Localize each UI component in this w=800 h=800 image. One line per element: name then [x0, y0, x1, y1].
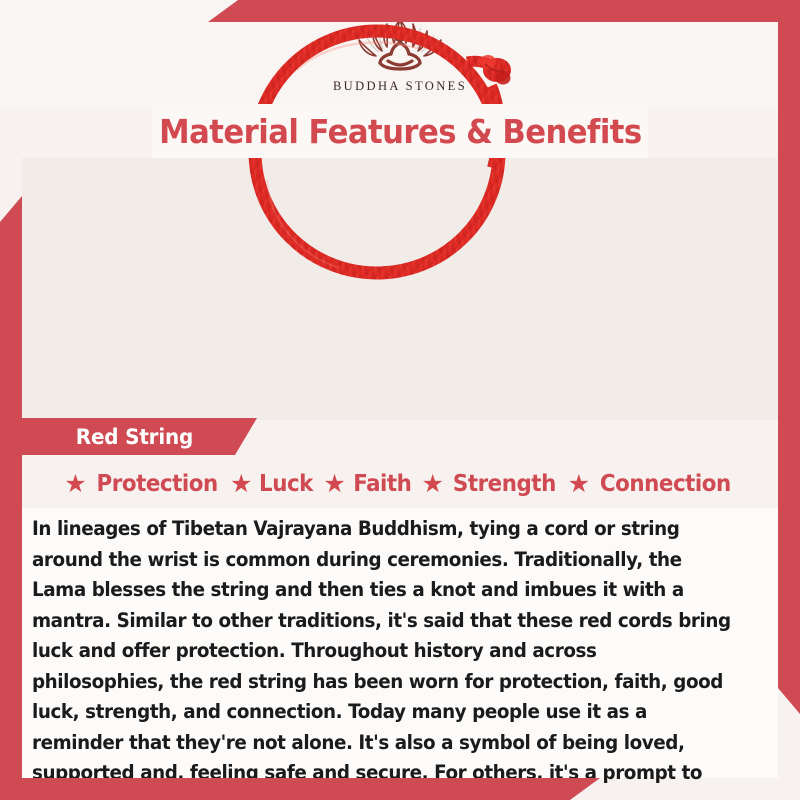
benefit-item-luck: ★ Luck: [230, 471, 315, 497]
star-icon: ★: [230, 472, 252, 497]
material-ribbon: Red String: [22, 418, 257, 455]
frame-accent-right: [778, 0, 800, 714]
star-icon: ★: [568, 472, 590, 497]
page-title-banner: Material Features & Benefits: [152, 104, 648, 158]
description-panel: In lineages of Tibetan Vajrayana Buddhis…: [22, 508, 778, 778]
star-icon: ★: [323, 472, 345, 497]
infographic-page: BUDDHA STONES: [0, 0, 800, 800]
star-icon: ★: [64, 472, 86, 497]
star-icon: ★: [421, 472, 443, 497]
frame-accent-top-right: [208, 0, 800, 22]
benefit-item-faith: ★ Faith: [323, 471, 413, 497]
description-text: In lineages of Tibetan Vajrayana Buddhis…: [32, 514, 731, 800]
benefit-label: Strength: [453, 471, 556, 497]
benefit-label: Connection: [600, 471, 731, 497]
benefit-label: Luck: [259, 471, 313, 497]
frame-accent-left: [0, 196, 22, 800]
benefit-item-connection: ★ Connection: [568, 471, 736, 497]
frame-accent-bottom-left: [0, 778, 600, 800]
benefit-label: Faith: [353, 471, 411, 497]
benefit-item-protection: ★ Protection: [64, 471, 222, 497]
benefit-label: Protection: [96, 471, 217, 497]
benefit-item-strength: ★ Strength: [421, 471, 559, 497]
benefits-row: ★ Protection ★ Luck ★ Faith ★ Strength ★…: [22, 462, 778, 506]
material-ribbon-label: Red String: [26, 425, 193, 449]
page-title: Material Features & Benefits: [159, 112, 641, 151]
